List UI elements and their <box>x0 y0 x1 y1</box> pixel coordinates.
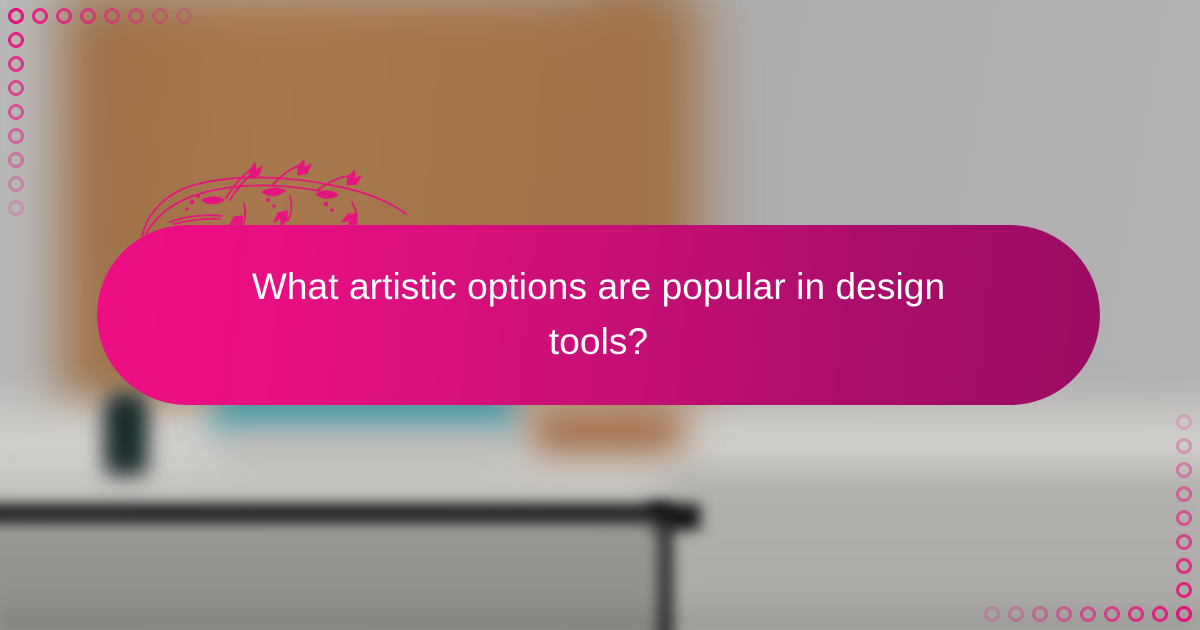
decorative-dot <box>8 152 24 168</box>
decorative-dot <box>1176 558 1192 574</box>
dark-bottle-object <box>104 392 148 476</box>
social-card-canvas: What artistic options are popular in des… <box>0 0 1200 630</box>
decorative-dot <box>32 8 48 24</box>
monitor-base <box>228 430 508 482</box>
decorative-dot <box>8 128 24 144</box>
decorative-dot <box>8 8 24 24</box>
decorative-dot <box>8 176 24 192</box>
decorative-dot <box>56 8 72 24</box>
decorative-dot <box>1128 606 1144 622</box>
warm-desk-object <box>532 412 682 454</box>
decorative-dot <box>1176 486 1192 502</box>
decorative-dot <box>1152 606 1168 622</box>
decorative-dot <box>104 8 120 24</box>
banner-question-text: What artistic options are popular in des… <box>227 260 970 370</box>
decorative-dot <box>984 606 1000 622</box>
decorative-dot <box>1080 606 1096 622</box>
decorative-dot <box>1056 606 1072 622</box>
decorative-dot <box>1176 582 1192 598</box>
decorative-dot <box>1104 606 1120 622</box>
decorative-dot <box>176 8 192 24</box>
decorative-dot <box>1008 606 1024 622</box>
decorative-dot <box>1032 606 1048 622</box>
decorative-dot <box>1176 438 1192 454</box>
decorative-dot <box>80 8 96 24</box>
decorative-dot <box>8 200 24 216</box>
decorative-dot <box>8 32 24 48</box>
decorative-dot <box>1176 462 1192 478</box>
decorative-dot <box>1176 510 1192 526</box>
decorative-dot <box>8 56 24 72</box>
decorative-dot <box>1176 606 1192 622</box>
decorative-dot <box>8 104 24 120</box>
decorative-dot <box>1176 534 1192 550</box>
decorative-dot <box>8 80 24 96</box>
decorative-dot <box>152 8 168 24</box>
decorative-dot <box>128 8 144 24</box>
decorative-dot <box>1176 414 1192 430</box>
question-banner: What artistic options are popular in des… <box>97 225 1100 405</box>
